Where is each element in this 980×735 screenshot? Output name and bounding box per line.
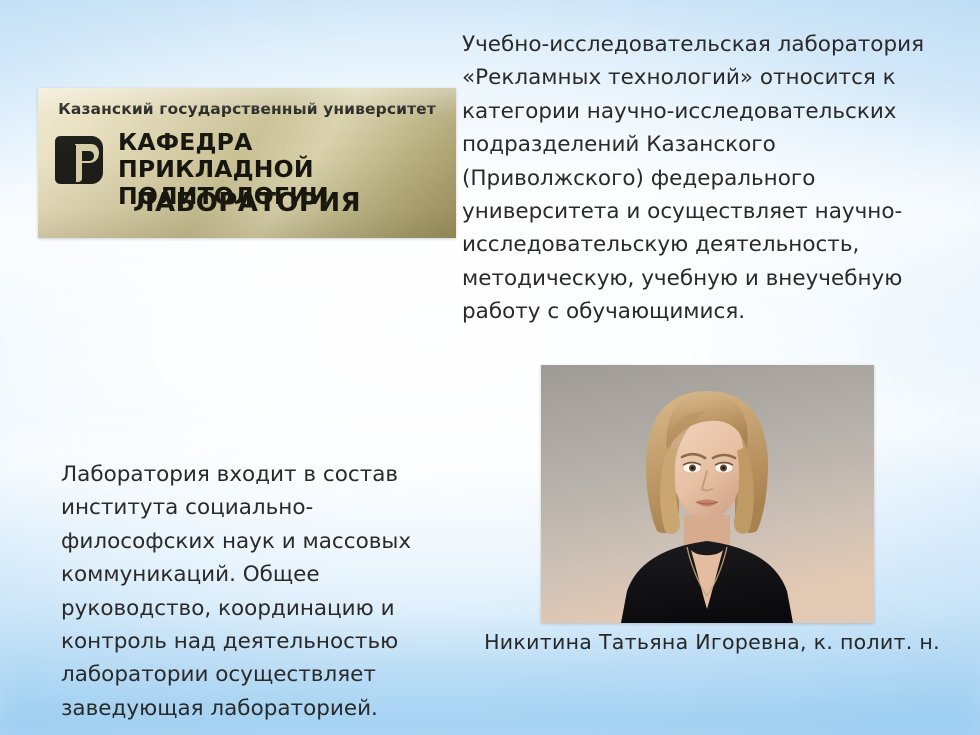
kazan-university-logo-icon <box>51 132 107 188</box>
head-of-laboratory-photo <box>541 365 874 623</box>
lab-description-paragraph: Учебно-исследовательская лаборатория «Ре… <box>462 28 962 329</box>
department-plaque-image: Казанский государственный университет КА… <box>38 88 456 238</box>
presentation-slide: Казанский государственный университет КА… <box>0 0 980 735</box>
lab-structure-paragraph: Лаборатория входит в состав института со… <box>61 458 441 725</box>
plaque-university-line: Казанский государственный университет <box>38 100 456 118</box>
plaque-department-line-1: КАФЕДРА <box>118 129 456 156</box>
plaque-laboratory-line: ЛАБОРАТОРИЯ <box>38 188 456 218</box>
portrait-caption: Никитина Татьяна Игоревна, к. полит. н. <box>462 630 962 654</box>
